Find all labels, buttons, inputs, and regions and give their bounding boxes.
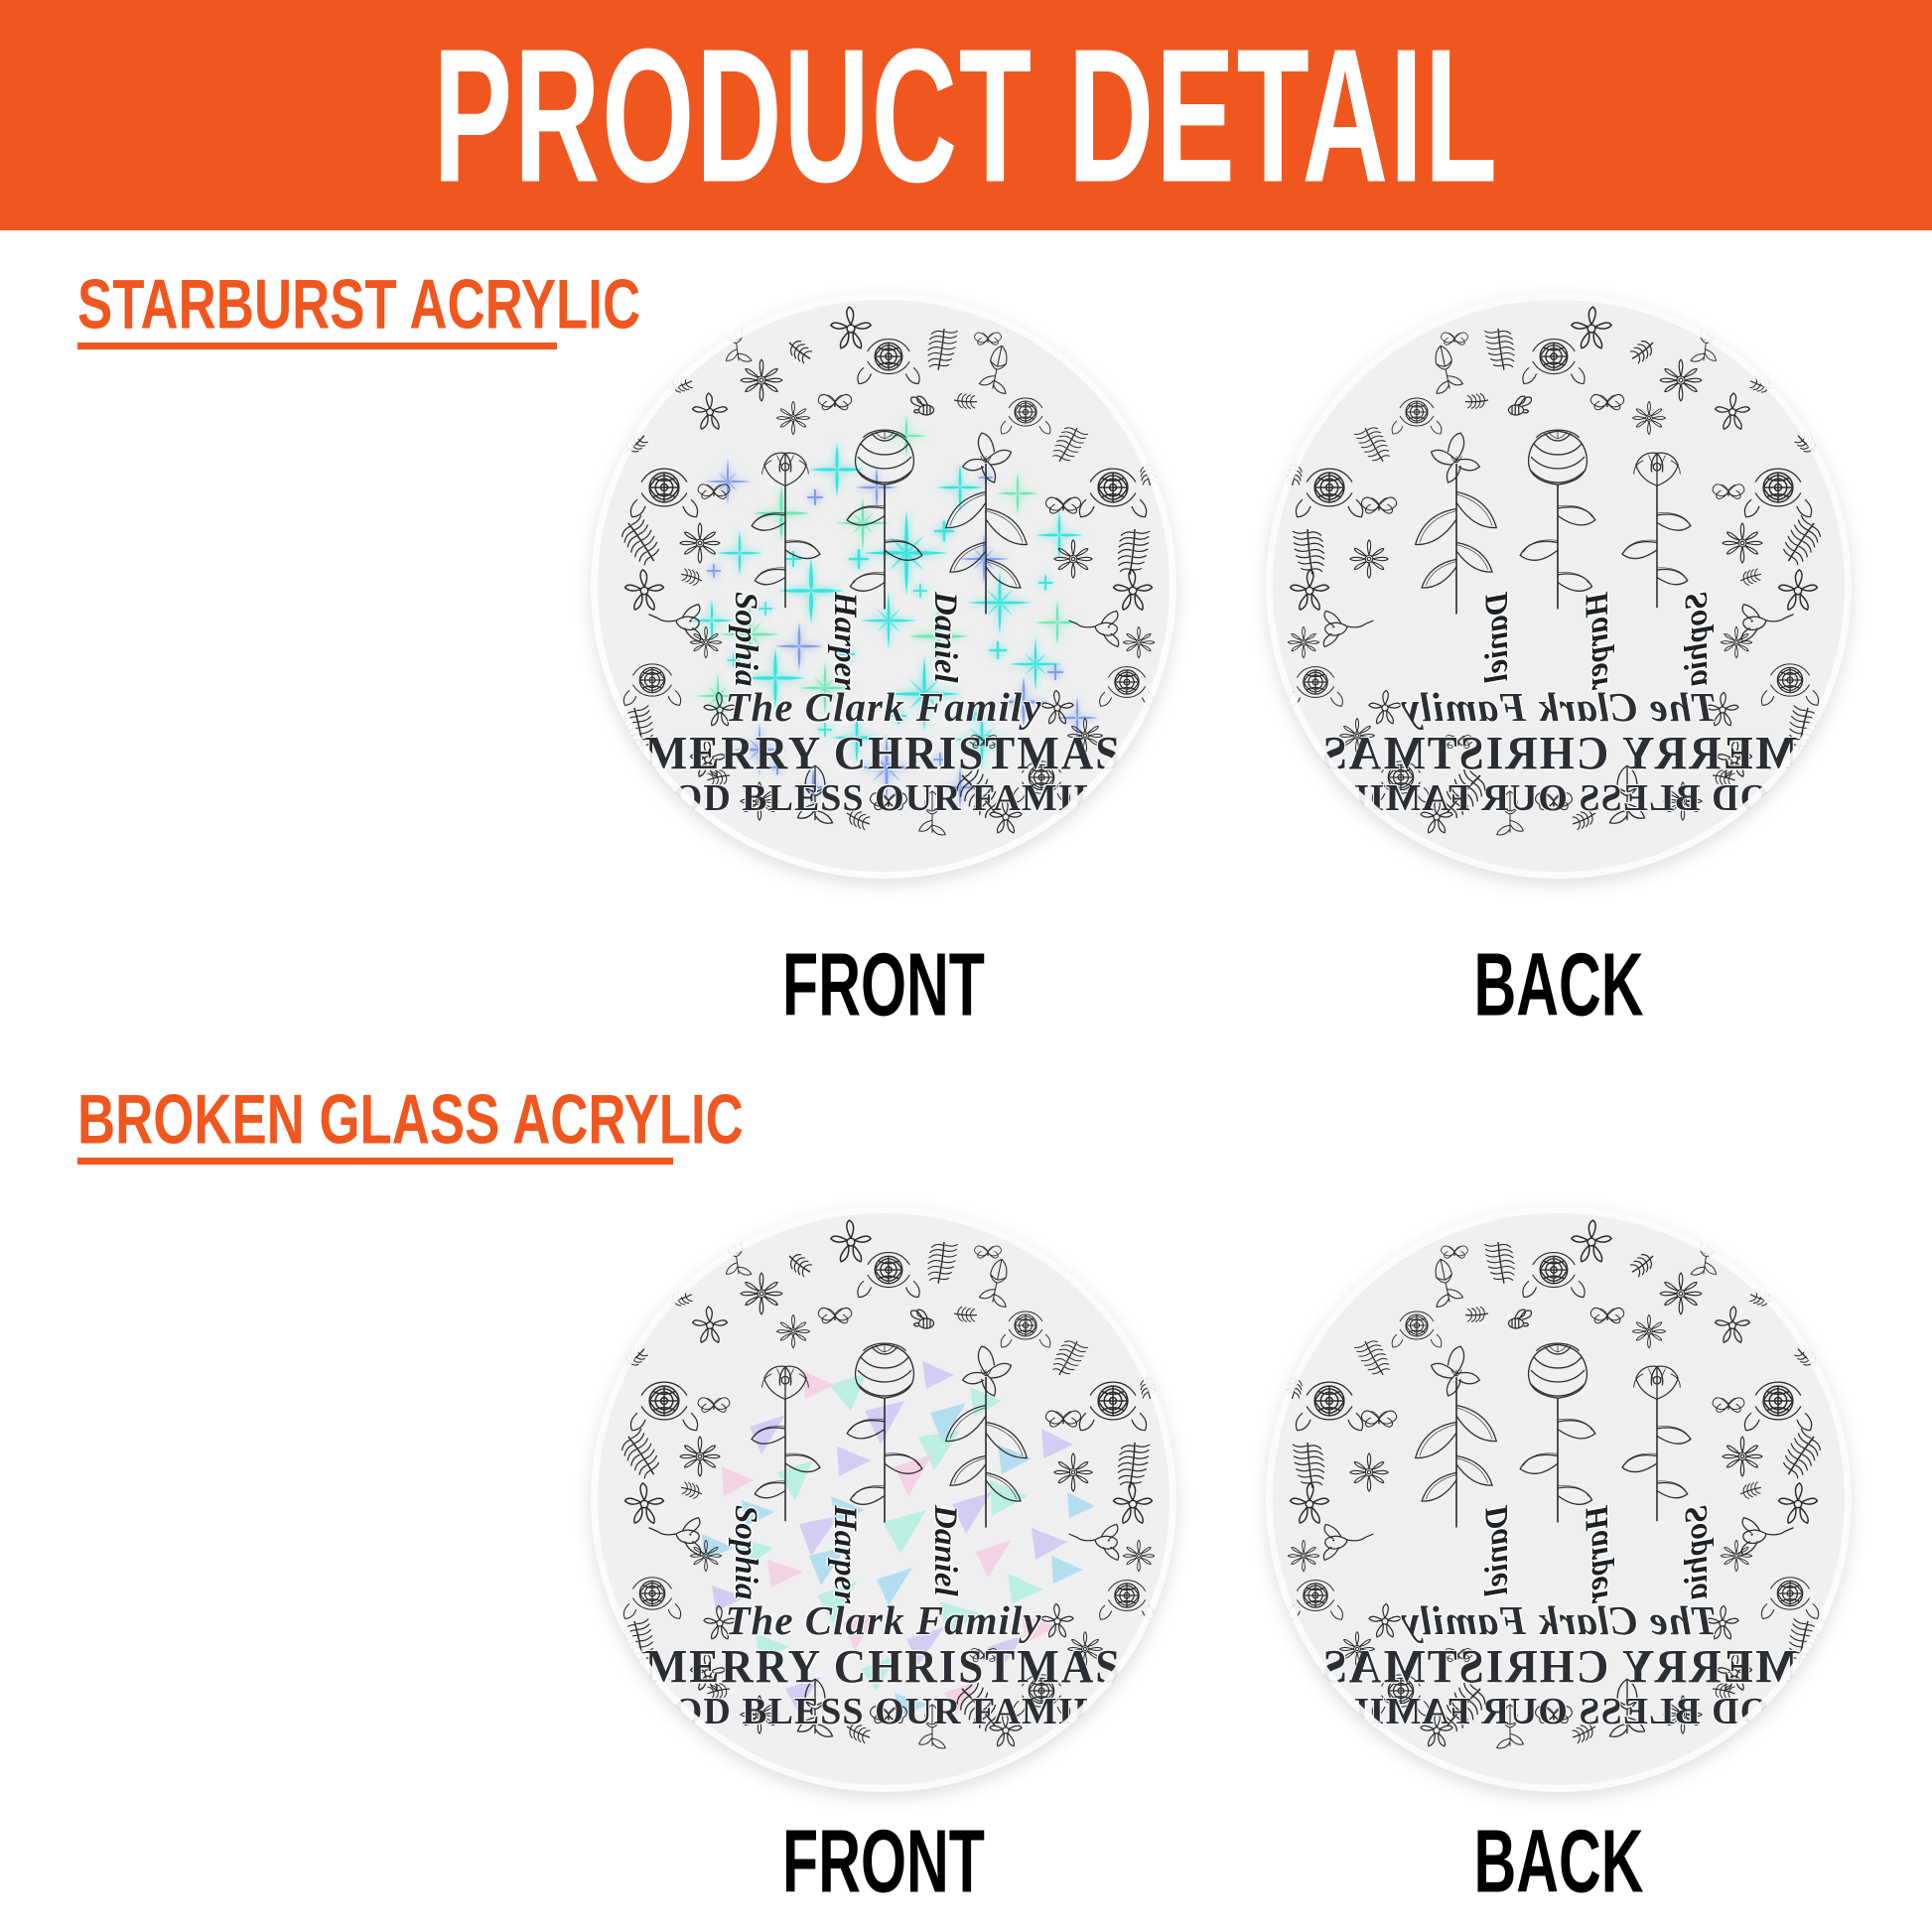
ornament-disc: Sophia Harper Daniel The Clark Family ME…: [1266, 293, 1852, 879]
caption-front-starburst: FRONT: [645, 940, 1122, 1030]
ornament-starburst-front[interactable]: Sophia Harper Daniel The Clark Family ME…: [591, 293, 1176, 879]
section-label-starburst-acrylic: STARBURST ACRYLIC: [77, 270, 640, 341]
ornament-disc: Sophia Harper Daniel The Clark Family ME…: [591, 1206, 1176, 1792]
botanical-artwork: [1266, 1206, 1852, 1792]
botanical-artwork: [591, 1206, 1176, 1792]
caption-back-starburst: BACK: [1320, 940, 1797, 1030]
caption-front-broken-glass: FRONT: [645, 1817, 1122, 1906]
ornament-broken-glass-back[interactable]: Sophia Harper Daniel The Clark Family ME…: [1266, 1206, 1852, 1792]
ornament-disc: Sophia Harper Daniel The Clark Family ME…: [1266, 1206, 1852, 1792]
page-title: PRODUCT DETAIL: [433, 20, 1498, 210]
botanical-artwork: [1266, 293, 1852, 879]
ornament-starburst-back[interactable]: Sophia Harper Daniel The Clark Family ME…: [1266, 293, 1852, 879]
ornament-broken-glass-front[interactable]: Sophia Harper Daniel The Clark Family ME…: [591, 1206, 1176, 1792]
section-underline-broken-glass: [77, 1158, 673, 1165]
product-detail-banner: PRODUCT DETAIL: [0, 0, 1932, 230]
section-underline-starburst: [77, 343, 557, 349]
botanical-artwork: [591, 293, 1176, 879]
ornament-disc: Sophia Harper Daniel The Clark Family ME…: [591, 293, 1176, 879]
caption-back-broken-glass: BACK: [1320, 1817, 1797, 1906]
section-label-broken-glass-acrylic: BROKEN GLASS ACRYLIC: [77, 1085, 744, 1156]
